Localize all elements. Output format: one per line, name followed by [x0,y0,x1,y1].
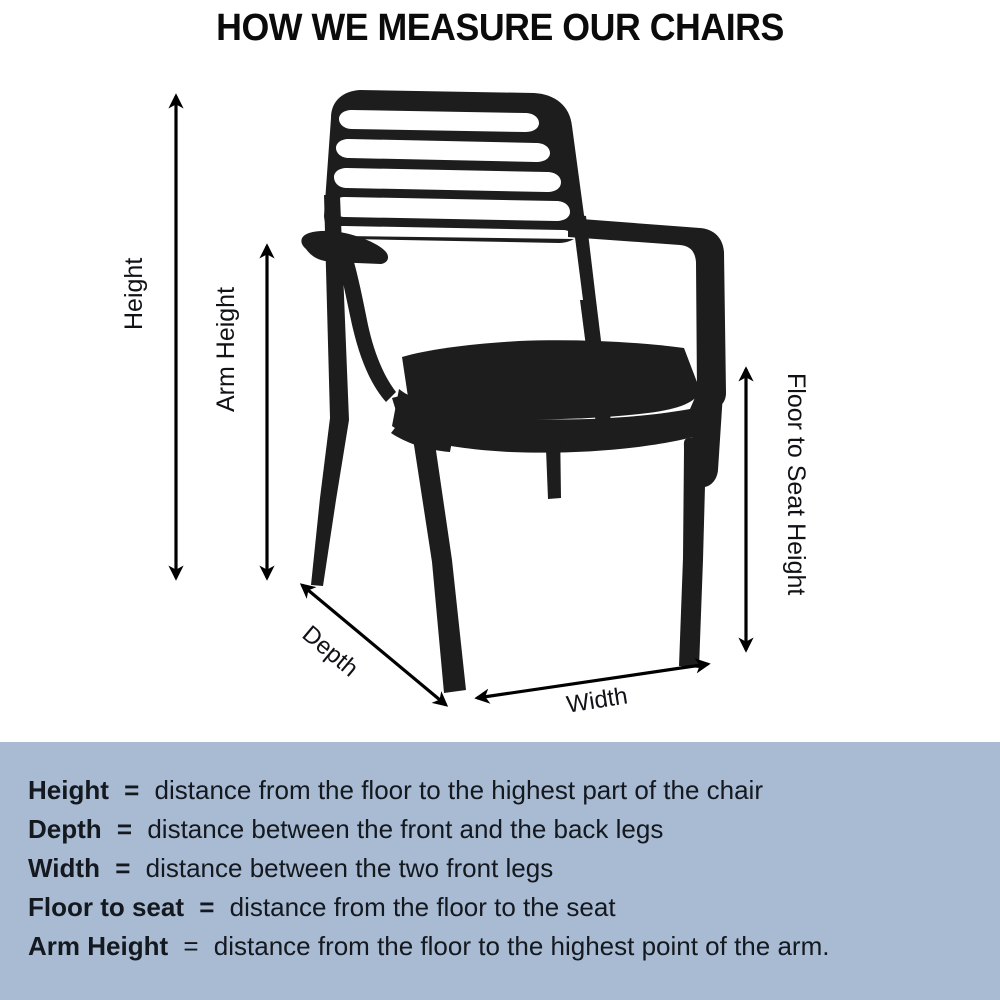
legend-term: Height [28,775,109,805]
floor-to-seat-height-label: Floor to Seat Height [783,373,808,595]
infographic-page: HOW WE MEASURE OUR CHAIRS [0,0,1000,1000]
legend-term: Floor to seat [28,892,184,922]
legend-equals: = [117,814,132,844]
legend-description: distance between the two front legs [146,853,554,883]
legend-term: Width [28,853,100,883]
legend-panel: Height = distance from the floor to the … [0,742,1000,1000]
legend-description: distance from the floor to the highest p… [214,931,830,961]
legend-equals: = [183,931,198,961]
legend-equals: = [115,853,130,883]
legend-row: Arm Height = distance from the floor to … [28,931,837,961]
arm-height-label: Arm Height [214,287,239,412]
legend-equals: = [199,892,214,922]
legend-row: Floor to seat = distance from the floor … [28,892,624,922]
legend-equals: = [124,775,139,805]
dimension-arrows [0,0,1000,742]
legend-term: Arm Height [28,931,168,961]
legend-description: distance from the floor to the highest p… [155,775,763,805]
legend-description: distance from the floor to the seat [230,892,616,922]
legend-description: distance between the front and the back … [147,814,663,844]
height-label: Height [122,258,147,330]
chair-illustration: Height Arm Height Floor to Seat Height D… [0,0,1000,742]
legend-row: Depth = distance between the front and t… [28,814,671,844]
legend-term: Depth [28,814,102,844]
legend-row: Width = distance between the two front l… [28,853,561,883]
legend-row: Height = distance from the floor to the … [28,775,771,805]
